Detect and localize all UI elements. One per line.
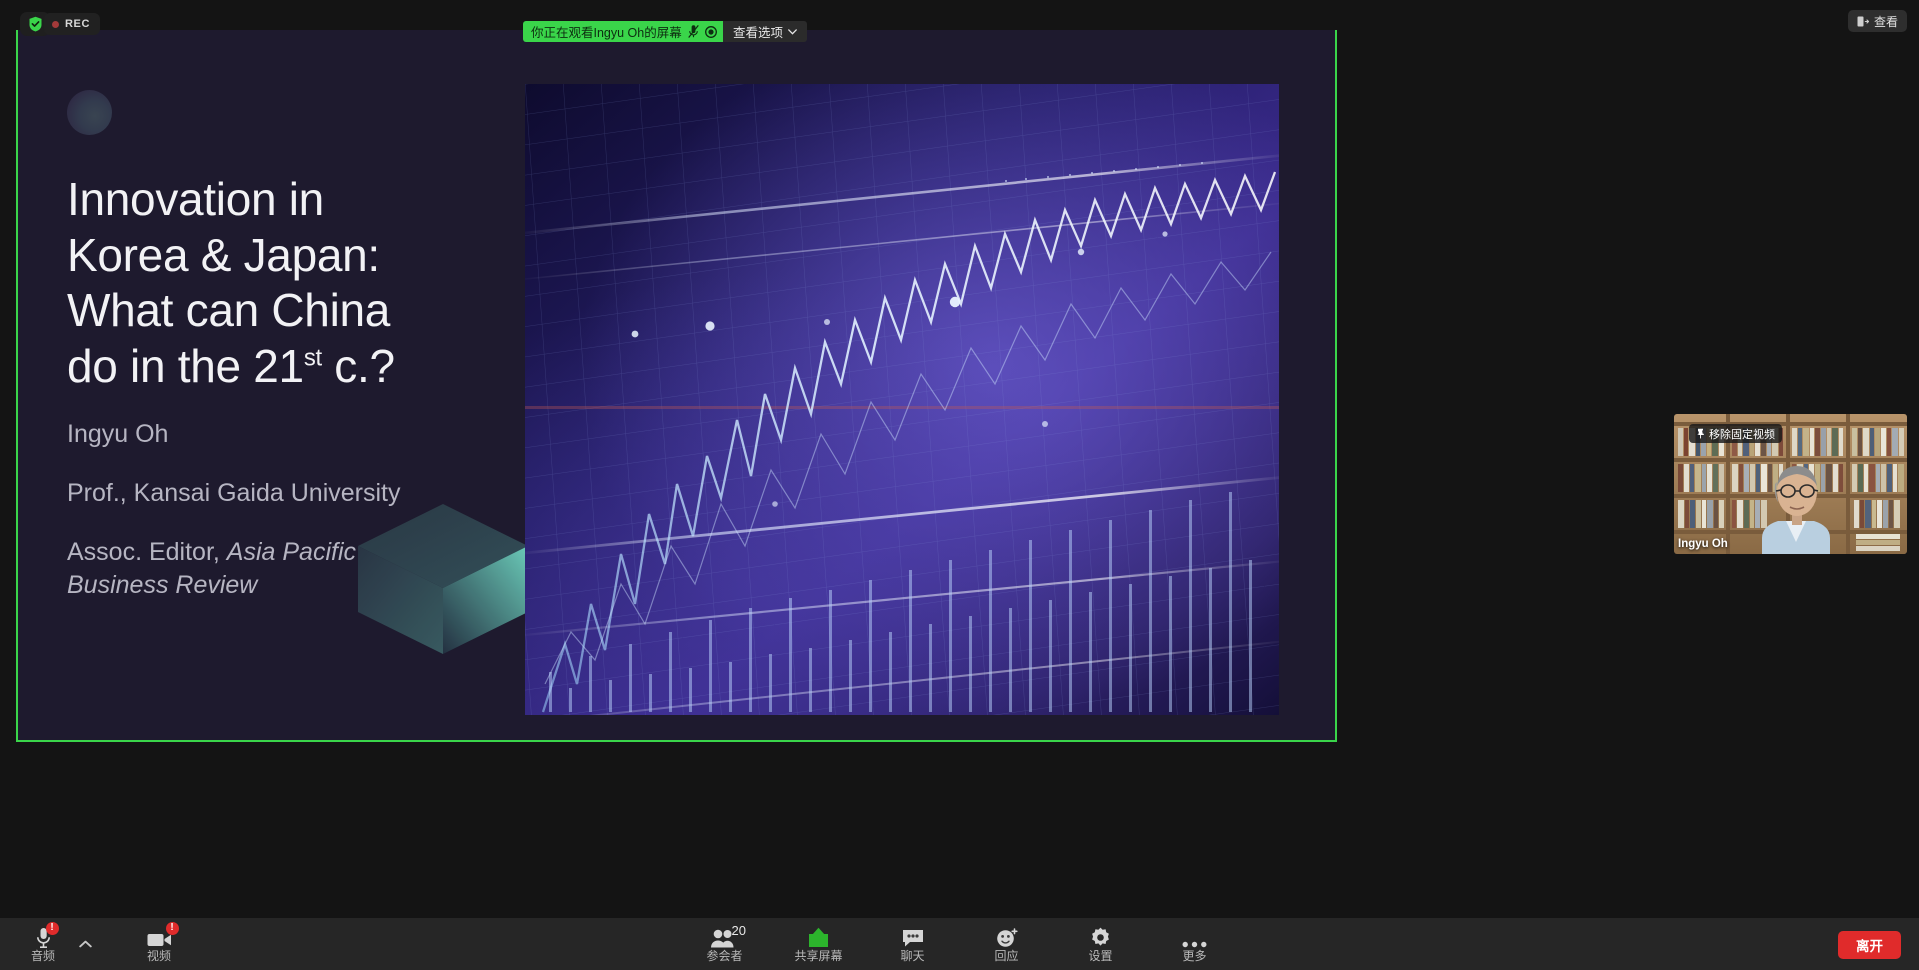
participants-icon: 20 <box>711 927 739 948</box>
participant-video-thumbnail[interactable]: 移除固定视频 Ingyu Oh <box>1674 414 1907 554</box>
video-warning-badge: ! <box>166 922 179 935</box>
unpin-video-label: 移除固定视频 <box>1709 426 1775 442</box>
presentation-slide: Innovation in Korea & Japan: What can Ch… <box>18 24 1335 740</box>
slide-affiliation: Prof., Kansai Gaida University <box>67 479 400 508</box>
video-label: 视频 <box>147 950 171 962</box>
more-button[interactable]: 更多 <box>1166 918 1224 970</box>
chat-bubble-icon <box>901 927 925 948</box>
record-dot-icon <box>52 21 59 28</box>
slide-title: Innovation in Korea & Japan: What can Ch… <box>67 172 497 395</box>
chevron-down-icon <box>788 29 797 35</box>
settings-label: 设置 <box>1088 950 1112 962</box>
microphone-icon: ! <box>35 927 52 948</box>
participants-label: 参会者 <box>706 950 742 962</box>
chat-button[interactable]: 聊天 <box>884 918 942 970</box>
watching-screen-banner[interactable]: 你正在观看Ingyu Oh的屏幕 <box>523 21 725 42</box>
slide-title-line-1: Innovation in <box>67 173 324 225</box>
top-bar: REC 你正在观看Ingyu Oh的屏幕 查看选项 <box>0 0 1919 30</box>
more-label: 更多 <box>1182 950 1206 962</box>
slide-title-line-2: Korea & Japan: <box>67 229 380 281</box>
audio-options-button[interactable] <box>72 918 98 970</box>
pin-icon <box>1696 428 1705 439</box>
unpin-video-button[interactable]: 移除固定视频 <box>1689 424 1782 443</box>
audio-button[interactable]: ! 音频 <box>14 918 72 970</box>
share-screen-label: 共享屏幕 <box>794 950 842 962</box>
recording-indicator[interactable]: REC <box>44 13 100 35</box>
watching-screen-text: 你正在观看Ingyu Oh的屏幕 <box>531 22 682 41</box>
view-options-dropdown[interactable]: 查看选项 <box>723 21 807 42</box>
slide-image <box>525 84 1279 715</box>
chat-label: 聊天 <box>900 950 924 962</box>
video-button[interactable]: ! 视频 <box>130 918 188 970</box>
slide-title-line-3: What can China <box>67 284 390 336</box>
chevron-up-icon <box>79 940 92 948</box>
mic-muted-icon <box>688 25 699 38</box>
participants-button[interactable]: 20 参会者 <box>696 918 754 970</box>
camera-icon: ! <box>147 927 172 948</box>
slide-title-line-4b: c.? <box>322 340 395 392</box>
meeting-toolbar: ! 音频 ! 视频 <box>0 918 1919 970</box>
view-button-label: 查看 <box>1874 13 1898 30</box>
audio-warning-badge: ! <box>46 922 59 935</box>
ellipsis-icon <box>1182 927 1207 948</box>
slide-editor-prefix: Assoc. Editor, <box>67 538 227 566</box>
record-dot-icon[interactable] <box>705 26 717 38</box>
thumbnail-participant-name: Ingyu Oh <box>1678 538 1728 550</box>
layout-panel-icon <box>1857 16 1869 27</box>
shared-screen-frame: Innovation in Korea & Japan: What can Ch… <box>16 22 1337 742</box>
reactions-label: 回应 <box>994 950 1018 962</box>
sphere-decoration <box>67 90 112 135</box>
zoom-meeting-window: REC 你正在观看Ingyu Oh的屏幕 查看选项 <box>0 0 1919 970</box>
shield-check-icon <box>28 16 43 32</box>
view-layout-button[interactable]: 查看 <box>1848 10 1907 32</box>
toolbar-left-group: ! 音频 ! 视频 <box>14 918 188 970</box>
slide-title-ordinal-suffix: st <box>304 345 322 372</box>
audio-label: 音频 <box>31 950 55 962</box>
slide-editor-role: Assoc. Editor, Asia Pacific Business Rev… <box>67 536 437 603</box>
slide-title-line-4a: do in the 21 <box>67 340 304 392</box>
toolbar-center-group: 20 参会者 共享屏幕 <box>696 918 1224 970</box>
reactions-button[interactable]: 回应 <box>978 918 1036 970</box>
share-screen-button[interactable]: 共享屏幕 <box>790 918 848 970</box>
leave-meeting-button[interactable]: 离开 <box>1838 931 1901 959</box>
smiley-plus-icon <box>996 927 1018 948</box>
share-screen-icon <box>806 927 831 948</box>
recording-label: REC <box>65 18 90 30</box>
view-options-label: 查看选项 <box>733 22 783 41</box>
slide-author: Ingyu Oh <box>67 420 168 449</box>
participants-count: 20 <box>732 923 746 938</box>
gear-icon <box>1090 927 1111 948</box>
settings-button[interactable]: 设置 <box>1072 918 1130 970</box>
